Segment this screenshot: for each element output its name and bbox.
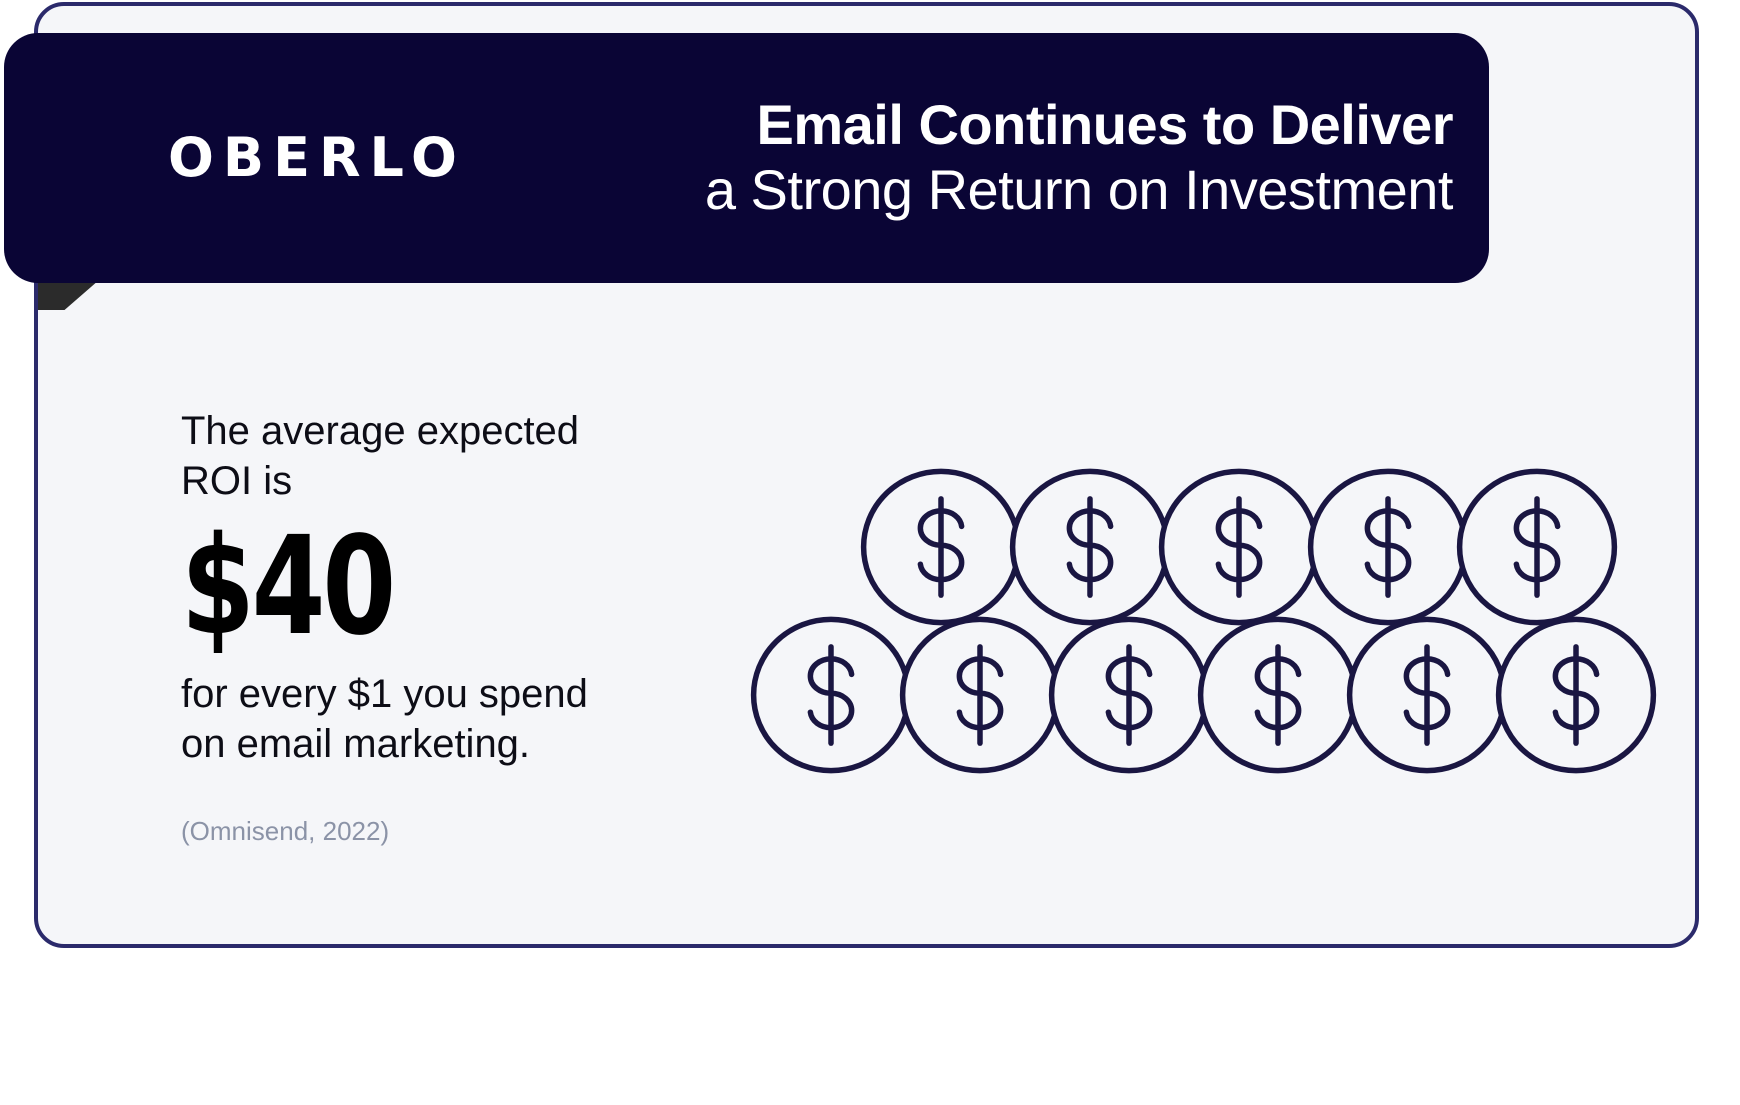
- stat-intro-text: The average expected ROI is: [181, 406, 701, 507]
- page-title-line-2: a Strong Return on Investment: [705, 158, 1453, 223]
- dollar-coin-icon: [1488, 609, 1664, 781]
- oberlo-logo: OBERLO: [168, 131, 466, 185]
- header-banner: OBERLO Email Continues to Deliver a Stro…: [4, 33, 1489, 283]
- stat-block: The average expected ROI is $40 for ever…: [181, 406, 701, 847]
- coin-row-top: [853, 461, 1598, 633]
- stat-source-citation: (Omnisend, 2022): [181, 816, 701, 847]
- page-title-line-1: Email Continues to Deliver: [705, 93, 1453, 158]
- dollar-coin-illustration: [743, 461, 1443, 781]
- coin-row-bottom: [743, 609, 1637, 781]
- infographic-card: OBERLO Email Continues to Deliver a Stro…: [34, 2, 1699, 948]
- dollar-coin-icon: [1449, 461, 1625, 633]
- page-title: Email Continues to Deliver a Strong Retu…: [705, 93, 1453, 223]
- stat-figure-value: $40: [181, 519, 587, 655]
- stat-outro-text: for every $1 you spend on email marketin…: [181, 669, 701, 770]
